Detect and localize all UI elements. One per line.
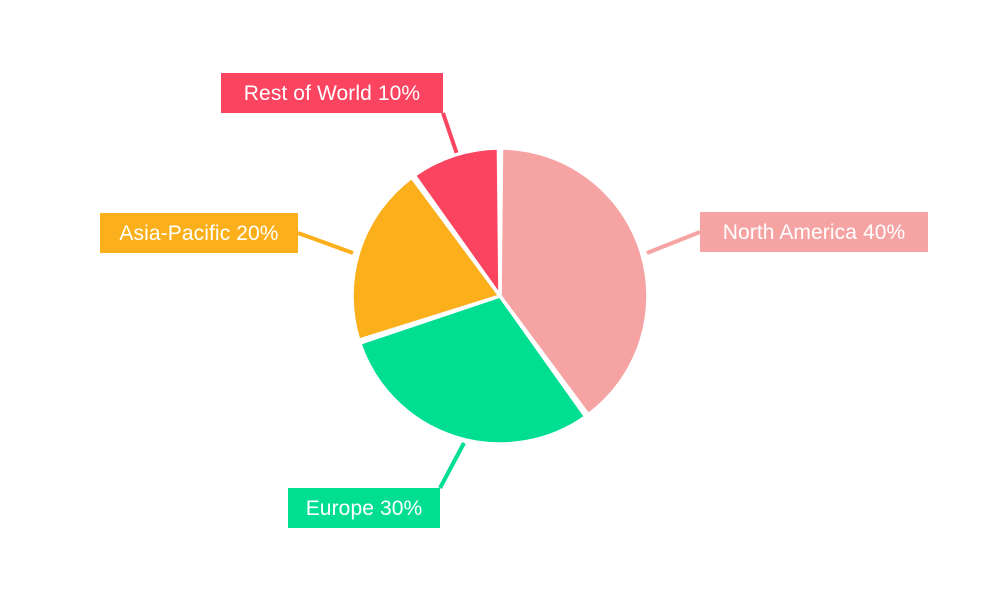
leader-line [647,232,700,253]
leader-line [440,443,464,488]
slice-label-europe[interactable]: Europe 30% [288,488,440,528]
slice-label-asia-pacific[interactable]: Asia-Pacific 20% [100,213,298,253]
pie-slices-group [352,148,648,444]
pie-chart-canvas [0,0,1000,600]
slice-label-rest-of-world[interactable]: Rest of World 10% [221,73,443,113]
leader-line [298,233,353,253]
pie-chart-figure: North America 40%Europe 30%Asia-Pacific … [0,0,1000,600]
slice-label-north-america[interactable]: North America 40% [700,212,928,252]
